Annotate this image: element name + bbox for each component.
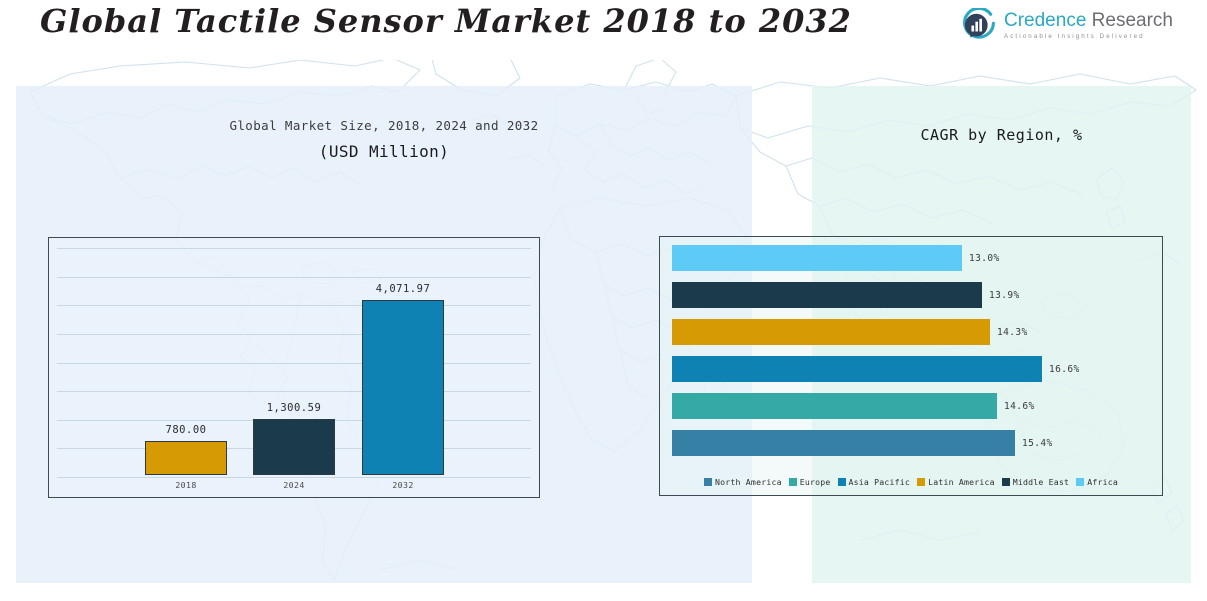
legend-swatch bbox=[704, 478, 712, 486]
bar bbox=[672, 282, 982, 308]
bar-row: 15.4% bbox=[672, 430, 1162, 456]
legend-item[interactable]: Latin America bbox=[917, 477, 995, 487]
bar-value-label: 15.4% bbox=[1022, 438, 1053, 449]
legend-label: Latin America bbox=[928, 477, 995, 487]
logo-name: Credence Research bbox=[1004, 11, 1173, 30]
left-chart-title-line2: (USD Million) bbox=[16, 142, 752, 161]
bar-row: 13.0% bbox=[672, 245, 1162, 271]
bar bbox=[145, 441, 227, 475]
bar-value-label: 13.0% bbox=[969, 253, 1000, 264]
logo-name-primary: Credence bbox=[1004, 10, 1086, 31]
bar-row: 14.3% bbox=[672, 319, 1162, 345]
global-market-size-chart: 780.0020181,300.5920244,071.972032 bbox=[48, 237, 540, 498]
legend-label: Asia Pacific bbox=[849, 477, 911, 487]
bar-value-label: 1,300.59 bbox=[267, 402, 322, 414]
legend-swatch bbox=[1002, 478, 1010, 486]
header-bar: Global Tactile Sensor Market 2018 to 203… bbox=[0, 0, 1207, 60]
bar-chart-circle-icon bbox=[961, 8, 997, 44]
legend-item[interactable]: Africa bbox=[1076, 477, 1118, 487]
bar-group: 780.002018 bbox=[145, 441, 227, 475]
bar bbox=[362, 300, 444, 475]
bar bbox=[253, 419, 335, 475]
legend-item[interactable]: Middle East bbox=[1002, 477, 1069, 487]
bar-value-label: 14.3% bbox=[997, 327, 1028, 338]
bar-value-label: 13.9% bbox=[989, 290, 1020, 301]
legend-label: North America bbox=[715, 477, 782, 487]
bar-row: 14.6% bbox=[672, 393, 1162, 419]
chart-legend: North AmericaEuropeAsia PacificLatin Ame… bbox=[660, 477, 1162, 487]
credence-research-logo: Credence Research Actionable Insights De… bbox=[961, 8, 1173, 44]
logo-name-secondary: Research bbox=[1086, 10, 1173, 31]
left-chart-heading: Global Market Size, 2018, 2024 and 2032 … bbox=[16, 118, 752, 161]
legend-swatch bbox=[917, 478, 925, 486]
bar bbox=[672, 393, 997, 419]
logo-tagline: Actionable Insights Delivered bbox=[1004, 34, 1173, 40]
bar bbox=[672, 319, 990, 345]
bar bbox=[672, 245, 962, 271]
legend-item[interactable]: Asia Pacific bbox=[838, 477, 911, 487]
left-chart-title-line1: Global Market Size, 2018, 2024 and 2032 bbox=[16, 118, 752, 133]
bar-value-label: 780.00 bbox=[166, 424, 207, 436]
bar-value-label: 4,071.97 bbox=[376, 283, 431, 295]
bar-group: 4,071.972032 bbox=[362, 300, 444, 475]
bar-category-label: 2024 bbox=[283, 480, 304, 490]
bar-row: 16.6% bbox=[672, 356, 1162, 382]
legend-label: Europe bbox=[800, 477, 831, 487]
bar bbox=[672, 356, 1042, 382]
legend-swatch bbox=[789, 478, 797, 486]
page-title: Global Tactile Sensor Market 2018 to 203… bbox=[40, 2, 852, 40]
horizontal-bars-group: 13.0%13.9%14.3%16.6%14.6%15.4% bbox=[660, 245, 1162, 471]
legend-label: Africa bbox=[1087, 477, 1118, 487]
bar-category-label: 2018 bbox=[175, 480, 196, 490]
right-chart-title: CAGR by Region, % bbox=[812, 126, 1191, 144]
bar-group: 1,300.592024 bbox=[253, 419, 335, 475]
bar-row: 13.9% bbox=[672, 282, 1162, 308]
right-chart-heading: CAGR by Region, % bbox=[812, 126, 1191, 144]
legend-item[interactable]: North America bbox=[704, 477, 782, 487]
legend-swatch bbox=[1076, 478, 1084, 486]
bar-category-label: 2032 bbox=[392, 480, 413, 490]
legend-label: Middle East bbox=[1013, 477, 1069, 487]
bar-value-label: 16.6% bbox=[1049, 364, 1080, 375]
legend-item[interactable]: Europe bbox=[789, 477, 831, 487]
bar bbox=[672, 430, 1015, 456]
legend-swatch bbox=[838, 478, 846, 486]
cagr-by-region-chart: 13.0%13.9%14.3%16.6%14.6%15.4% North Ame… bbox=[659, 236, 1163, 496]
vertical-bars-group: 780.0020181,300.5920244,071.972032 bbox=[49, 238, 539, 497]
bar-value-label: 14.6% bbox=[1004, 401, 1035, 412]
